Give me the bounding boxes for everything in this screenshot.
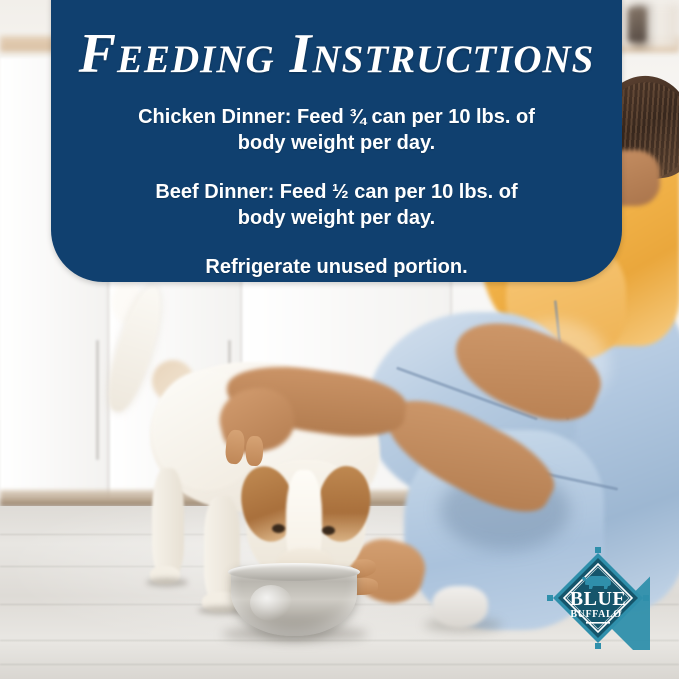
instruction-beef-line2: body weight per day.	[238, 207, 435, 229]
instruction-spacer	[77, 157, 596, 179]
instruction-chicken-line1: Chicken Dinner: Feed ¾ can per 10 lbs. o…	[138, 106, 535, 128]
logo-brand-secondary: BUFFALO	[570, 609, 621, 620]
feeding-instructions-panel: Feeding Instructions Chicken Dinner: Fee…	[51, 0, 622, 282]
instruction-chicken-line2: body weight per day.	[238, 132, 435, 154]
person-finger	[245, 436, 263, 467]
shelf-jar	[628, 8, 646, 42]
dog-hind-leg	[152, 468, 184, 576]
blue-buffalo-logo: BLUE BUFFALO ®	[546, 546, 650, 650]
storage-note: Refrigerate unused portion.	[77, 256, 596, 279]
instructions-list: Chicken Dinner: Feed ¾ can per 10 lbs. o…	[77, 104, 596, 279]
dog-eye-right	[322, 526, 335, 535]
cabinet-handle-1	[96, 340, 99, 460]
dog-bowl-rim	[228, 563, 360, 581]
brand-diamond-icon: BLUE BUFFALO ®	[546, 546, 650, 650]
product-detail-image: Feeding Instructions Chicken Dinner: Fee…	[0, 0, 679, 679]
logo-registered-mark: ®	[618, 609, 622, 615]
dog-bowl-highlight	[250, 585, 292, 621]
instruction-chicken: Chicken Dinner: Feed ¾ can per 10 lbs. o…	[122, 104, 552, 157]
page-title: Feeding Instructions	[77, 26, 596, 82]
dog-eye-left	[272, 524, 285, 533]
logo-divider-rule	[586, 622, 610, 624]
instruction-beef: Beef Dinner: Feed ½ can per 10 lbs. of b…	[122, 179, 552, 232]
instruction-beef-line1: Beef Dinner: Feed ½ can per 10 lbs. of	[155, 181, 517, 203]
logo-brand-primary: BLUE	[570, 588, 626, 610]
person-sock	[432, 586, 488, 628]
dog-paw-shadow	[146, 578, 188, 587]
